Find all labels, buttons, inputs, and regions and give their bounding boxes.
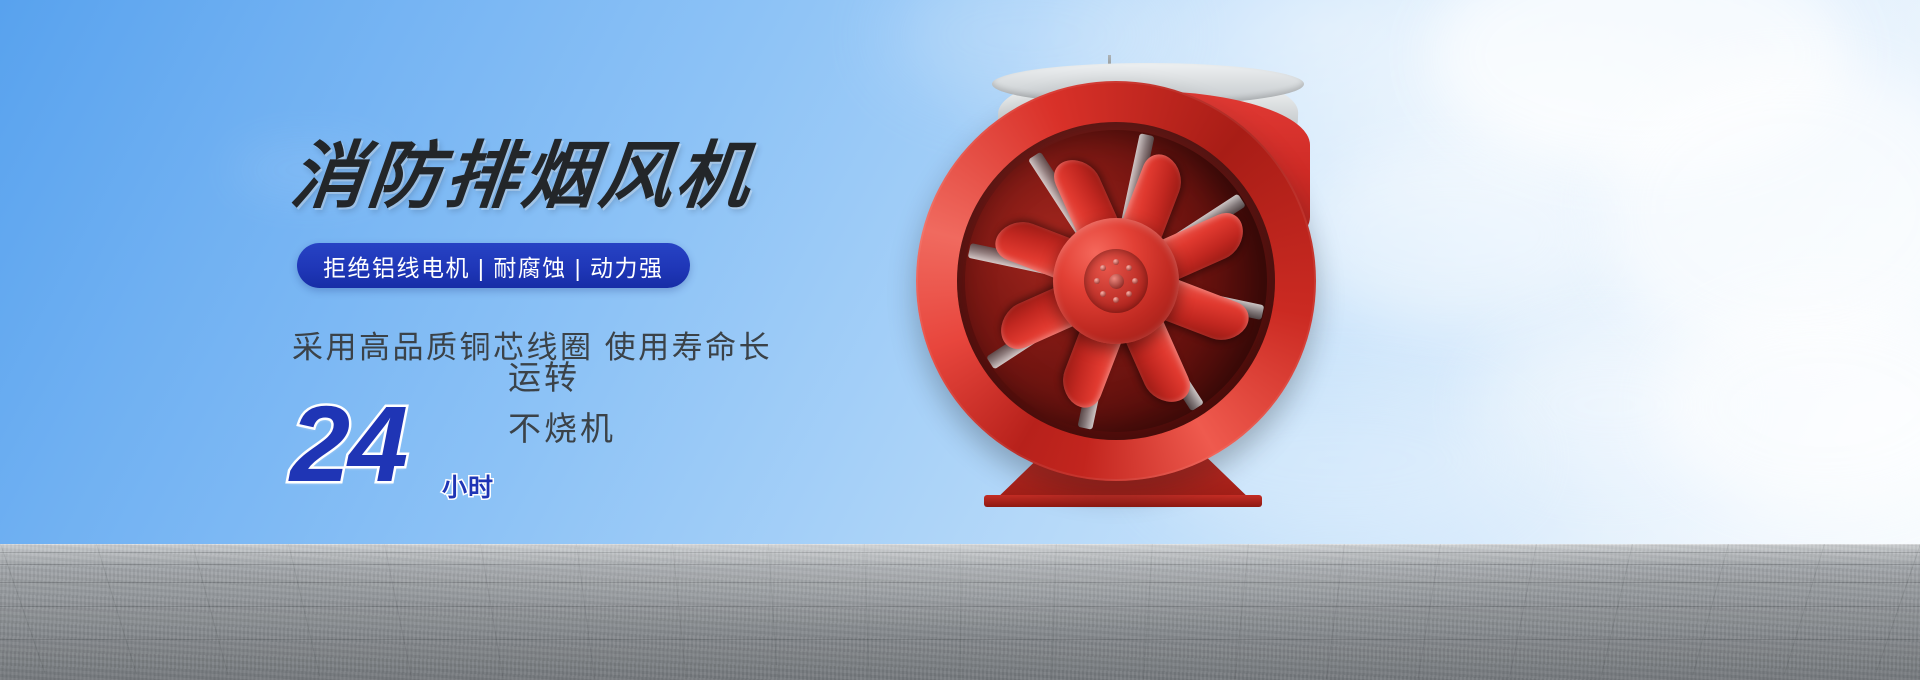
product-axial-fan — [880, 55, 1360, 525]
fan-hub — [1053, 218, 1179, 344]
fan-hub-bolt — [1113, 259, 1119, 265]
hours-slogan: 运转 不烧机 — [508, 352, 616, 454]
promo-banner: 消防排烟风机 拒绝铝线电机 | 耐腐蚀 | 动力强 采用高品质铜芯线圈 使用寿命… — [0, 0, 1920, 680]
fan-duct-inner — [957, 122, 1275, 440]
fan-hub-center — [1109, 274, 1124, 289]
feature-badge: 拒绝铝线电机 | 耐腐蚀 | 动力强 — [297, 243, 690, 288]
hours-number: 24 — [290, 390, 406, 498]
fan-hub-bolt — [1113, 297, 1119, 303]
fan-hub-bolt — [1100, 265, 1106, 271]
fan-outer-ring — [916, 81, 1316, 481]
hours-highlight: 24 小时 运转 不烧机 — [290, 390, 810, 510]
marketing-copy: 消防排烟风机 拒绝铝线电机 | 耐腐蚀 | 动力强 采用高品质铜芯线圈 使用寿命… — [0, 0, 820, 560]
hours-slogan-line-2: 不烧机 — [508, 403, 616, 454]
paved-ground — [0, 544, 1920, 680]
fan-hub-bolt — [1100, 291, 1106, 297]
fan-stand-foot — [984, 495, 1262, 507]
fan-hub-bolt — [1126, 265, 1132, 271]
hours-slogan-line-1: 运转 — [508, 352, 616, 403]
fan-hub-bolt — [1132, 278, 1138, 284]
hours-unit-label: 小时 — [442, 468, 494, 504]
fan-hub-bolt — [1094, 278, 1100, 284]
ground-shading — [0, 544, 1920, 680]
page-title: 消防排烟风机 — [286, 117, 759, 223]
fan-hub-plate — [1084, 249, 1148, 313]
fan-hub-bolt — [1126, 291, 1132, 297]
feature-badge-label: 拒绝铝线电机 | 耐腐蚀 | 动力强 — [323, 249, 664, 283]
